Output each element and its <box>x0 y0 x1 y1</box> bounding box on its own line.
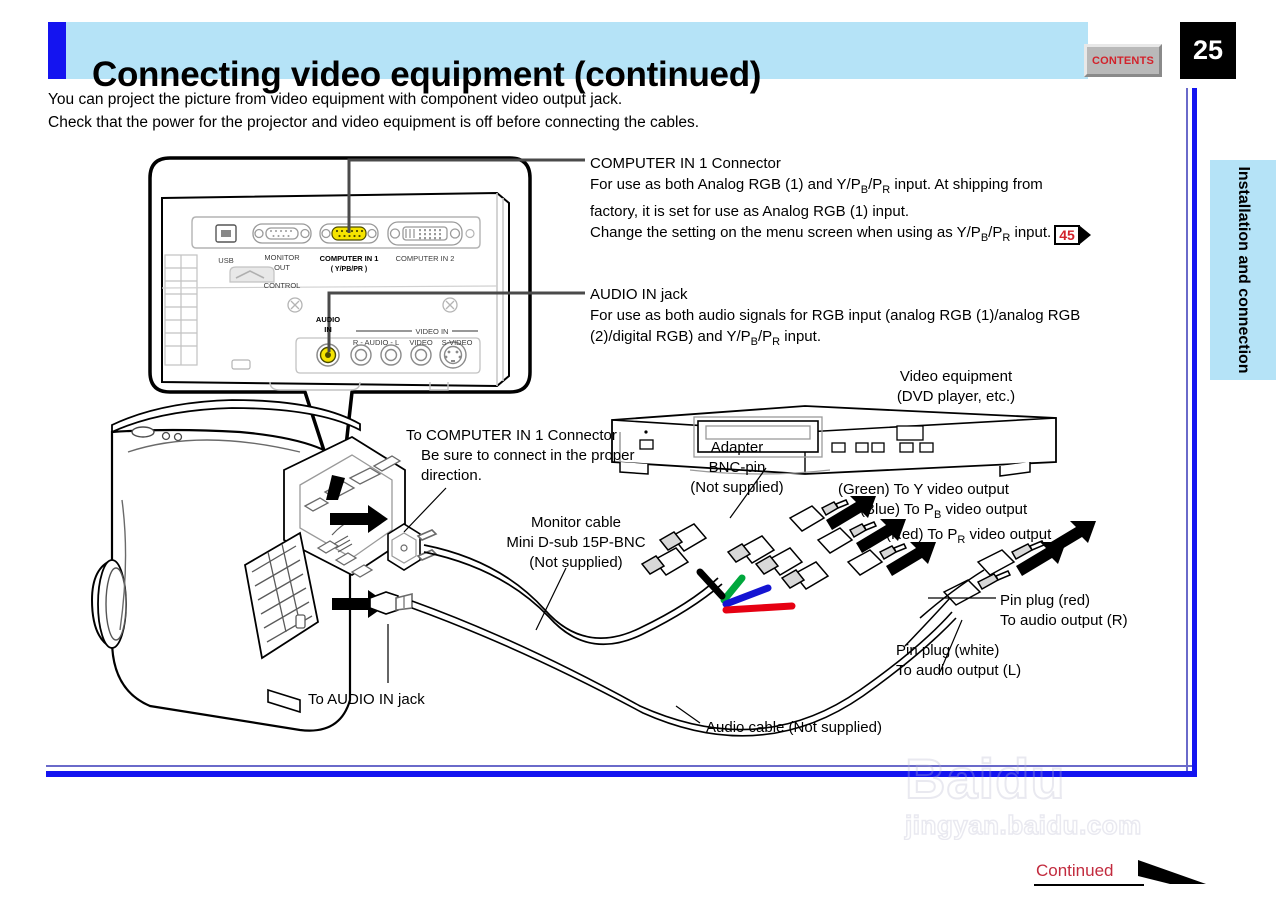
label-pin-plug-white-line2: To audio output (L) <box>896 661 1096 681</box>
label-monitor-cable-line2: Mini D-sub 15P-BNC <box>486 533 666 553</box>
border-right-thin <box>1186 88 1188 776</box>
label-component-outputs: (Green) To Y video output (Blue) To PB v… <box>838 480 1118 550</box>
callout-audio-in-line2: (2)/digital RGB) and Y/PB/PR input. <box>590 326 1170 353</box>
intro-line-2: Check that the power for the projector a… <box>48 111 1148 134</box>
label-to-computer-in-1: To COMPUTER IN 1 Connector Be sure to co… <box>406 426 696 486</box>
label-pin-plug-red-line1: Pin plug (red) <box>1000 591 1190 611</box>
port-label-computer-in-2: COMPUTER IN 2 <box>396 254 455 263</box>
port-label-computer-in-1-sub: ( Y/PB/PR ) <box>331 266 367 273</box>
label-pin-plug-red: Pin plug (red) To audio output (R) <box>1000 591 1190 631</box>
port-label-s-video: S-VIDEO <box>442 338 473 347</box>
label-video-equipment: Video equipment (DVD player, etc.) <box>866 367 1046 407</box>
label-monitor-cable-line1: Monitor cable <box>486 513 666 533</box>
manual-page: USB MONITOR OUT CONTROL COMPUTER IN 1 ( … <box>0 0 1280 906</box>
page-reference-arrow-icon <box>1080 226 1091 244</box>
label-adapter-bnc-pin: Adapter BNC-pin (Not supplied) <box>672 438 802 498</box>
label-green-output: (Green) To Y video output <box>838 480 1118 500</box>
section-tab-label: Installation and connection <box>1210 160 1276 380</box>
label-audio-cable: Audio cable (Not supplied) <box>706 718 966 738</box>
continued-label: Continued <box>1036 861 1114 881</box>
label-red-output: (Red) To PR video output <box>838 525 1118 550</box>
callout-audio-in-heading: AUDIO IN jack <box>590 284 1170 305</box>
label-video-equipment-line1: Video equipment <box>866 367 1046 387</box>
callout-audio-in-line1: For use as both audio signals for RGB in… <box>590 305 1170 326</box>
label-monitor-cable-line3: (Not supplied) <box>486 553 666 573</box>
port-label-audio-in-1: AUDIO <box>316 315 340 324</box>
border-bottom-thin <box>46 765 1192 767</box>
port-label-computer-in-1: COMPUTER IN 1 <box>320 254 379 263</box>
continued-arrow-icon <box>1136 858 1208 888</box>
intro-paragraph: You can project the picture from video e… <box>48 88 1148 134</box>
label-to-computer-in-1-line3: direction. <box>406 466 696 486</box>
callout-computer-in-1-line1: For use as both Analog RGB (1) and Y/PB/… <box>590 174 1180 201</box>
port-label-control: CONTROL <box>264 281 301 290</box>
label-to-computer-in-1-line2: Be sure to connect in the proper <box>406 446 696 466</box>
page-number-text: 25 <box>1193 35 1223 66</box>
page-reference-45-number: 45 <box>1054 225 1080 245</box>
callout-audio-in: AUDIO IN jack For use as both audio sign… <box>590 284 1170 353</box>
callout-computer-in-1-line3: Change the setting on the menu screen wh… <box>590 222 1180 249</box>
page-reference-45[interactable]: 45 <box>1054 225 1091 245</box>
port-label-video-in: VIDEO IN <box>416 327 449 336</box>
label-adapter-line1: Adapter <box>672 438 802 458</box>
port-label-usb: USB <box>218 256 233 265</box>
dsub-plug <box>388 524 436 570</box>
contents-button[interactable]: CONTENTS <box>1084 44 1162 77</box>
border-right-thick <box>1192 88 1197 776</box>
label-monitor-cable: Monitor cable Mini D-sub 15P-BNC (Not su… <box>486 513 666 573</box>
callout-computer-in-1-line2: factory, it is set for use as Analog RGB… <box>590 201 1180 222</box>
page-number-badge: 25 <box>1180 22 1236 79</box>
callout-computer-in-1: COMPUTER IN 1 Connector For use as both … <box>590 153 1180 249</box>
bnc-connector-cluster <box>642 524 828 610</box>
intro-line-1: You can project the picture from video e… <box>48 88 1148 111</box>
port-label-video: VIDEO <box>409 338 433 347</box>
port-label-monitor-out-2: OUT <box>274 263 290 272</box>
audio-cable <box>412 601 956 736</box>
label-to-computer-in-1-line1: To COMPUTER IN 1 Connector <box>406 426 696 446</box>
border-bottom-thick <box>46 771 1197 777</box>
label-to-audio-in-jack: To AUDIO IN jack <box>308 690 508 710</box>
port-label-monitor-out-1: MONITOR <box>264 253 300 262</box>
callout-computer-in-1-heading: COMPUTER IN 1 Connector <box>590 153 1180 174</box>
label-adapter-line2: BNC-pin <box>672 458 802 478</box>
label-pin-plug-red-line2: To audio output (R) <box>1000 611 1190 631</box>
port-label-audio-in-2: IN <box>324 325 332 334</box>
projector-illustration <box>92 400 405 731</box>
continued-underline <box>1034 884 1144 886</box>
label-pin-plug-white-line1: Pin plug (white) <box>896 641 1096 661</box>
contents-button-label: CONTENTS <box>1092 55 1154 67</box>
label-blue-output: (Blue) To PB video output <box>838 500 1118 525</box>
label-video-equipment-line2: (DVD player, etc.) <box>866 387 1046 407</box>
header-accent-bar <box>48 22 66 79</box>
label-pin-plug-white: Pin plug (white) To audio output (L) <box>896 641 1096 681</box>
label-adapter-line3: (Not supplied) <box>672 478 802 498</box>
audio-miniplug <box>370 592 412 614</box>
port-label-r-audio-l: R - AUDIO - L <box>353 338 399 347</box>
